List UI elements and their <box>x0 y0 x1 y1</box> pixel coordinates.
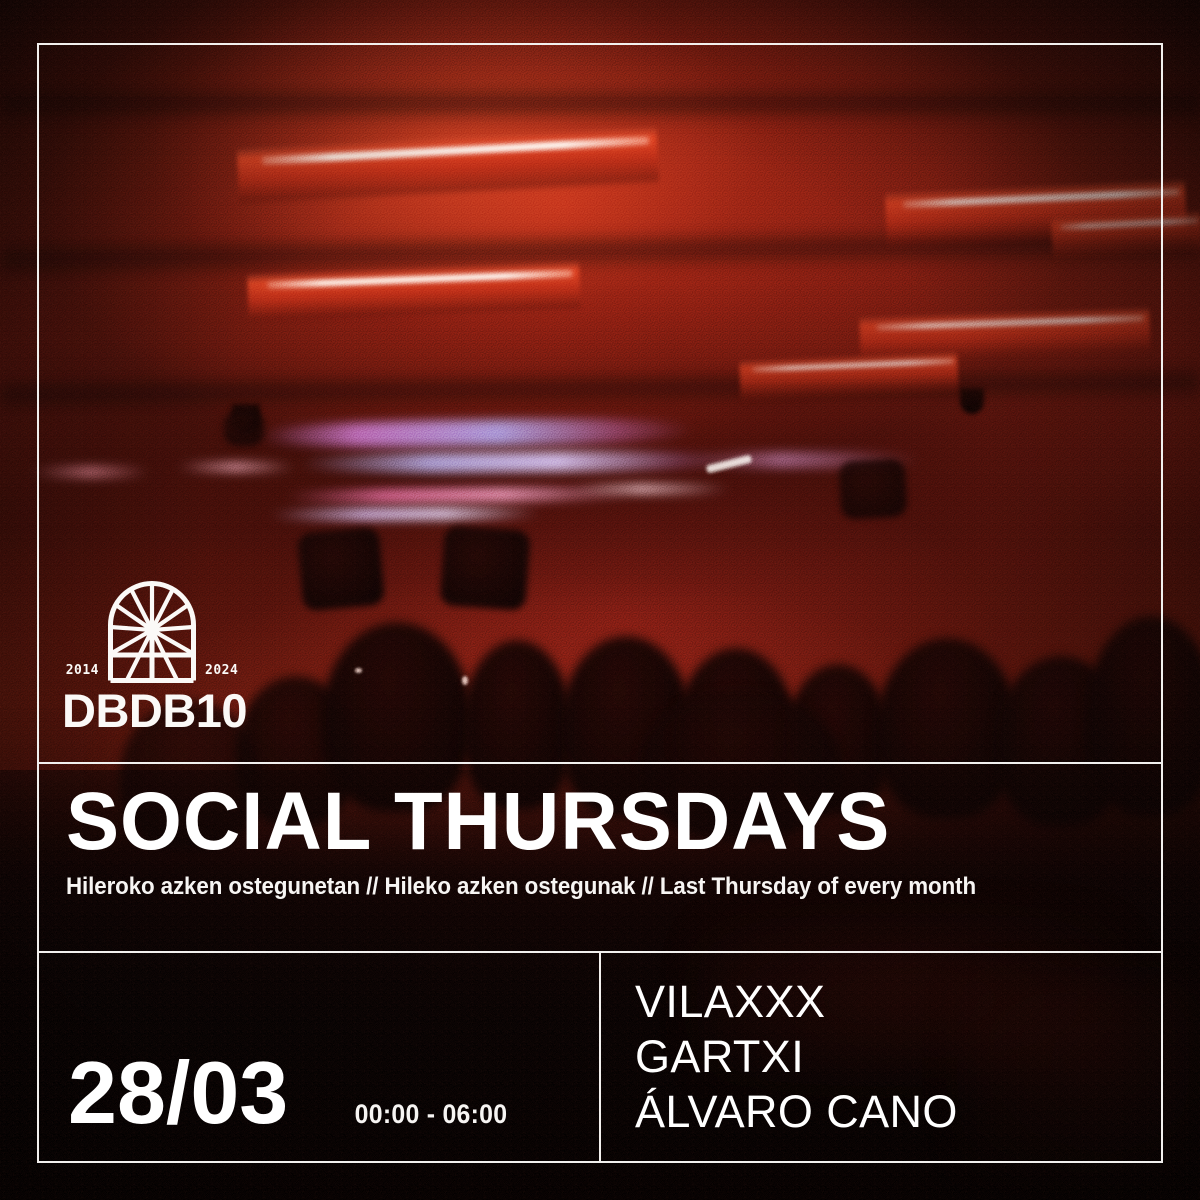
logo-wordmark: DBDB10 <box>62 687 242 734</box>
arch-window-icon <box>105 575 199 683</box>
list-item: VILAXXX <box>635 975 958 1030</box>
date-time-line: 28/03 00:00 - 06:00 <box>68 1049 514 1137</box>
poster-footer-row: 28/03 00:00 - 06:00 VILAXXX GARTXI ÁLVAR… <box>37 953 1163 1163</box>
lineup-list: VILAXXX GARTXI ÁLVARO CANO <box>635 975 958 1140</box>
event-poster: 2014 <box>0 0 1200 1200</box>
logo-mark-row: 2014 <box>62 575 242 683</box>
logo-year-end: 2024 <box>205 664 238 683</box>
date-cell: 28/03 00:00 - 06:00 <box>37 953 599 1163</box>
list-item: ÁLVARO CANO <box>635 1085 958 1140</box>
brand-logo-block: 2014 <box>62 575 242 734</box>
logo-year-start: 2014 <box>66 664 99 683</box>
event-date: 28/03 <box>68 1049 288 1137</box>
page-subtitle: Hileroko azken ostegunetan // Hileko azk… <box>66 874 1061 900</box>
list-item: GARTXI <box>635 1030 958 1085</box>
lineup-cell: VILAXXX GARTXI ÁLVARO CANO <box>599 953 1163 1163</box>
title-band: SOCIAL THURSDAYS Hileroko azken ostegune… <box>66 782 1136 901</box>
page-title: SOCIAL THURSDAYS <box>66 782 1104 862</box>
divider-above-title <box>37 762 1163 764</box>
event-time: 00:00 - 06:00 <box>355 1101 508 1128</box>
